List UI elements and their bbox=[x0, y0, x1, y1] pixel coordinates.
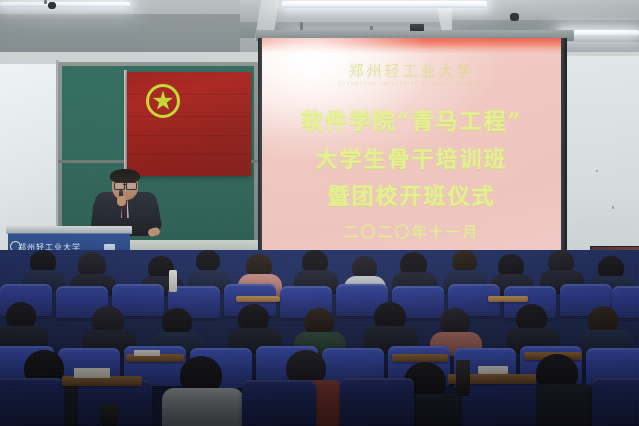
desk-surface bbox=[236, 296, 280, 302]
lecture-seat bbox=[0, 378, 64, 426]
audience-person bbox=[162, 388, 244, 426]
slide-university-logo: 郑州轻工业大学 ZHENGZHOU UNIVERSITY OF LIGHT IN… bbox=[262, 60, 561, 87]
desk-surface bbox=[488, 296, 528, 302]
lecture-seat bbox=[340, 378, 414, 426]
ceiling-speaker-icon bbox=[510, 13, 519, 21]
slide-logo-cn: 郑州轻工业大学 bbox=[262, 60, 561, 81]
lecture-seat bbox=[462, 380, 536, 426]
projection-screen: 郑州轻工业大学 ZHENGZHOU UNIVERSITY OF LIGHT IN… bbox=[262, 38, 561, 268]
lecture-seat bbox=[242, 380, 316, 426]
speaker-hand-holding-mic bbox=[117, 196, 126, 206]
slide-title-line-1: 软件学院“青马工程” bbox=[262, 104, 561, 136]
wall-panel-right bbox=[566, 56, 639, 271]
slide-date: 二〇二〇年十一月 bbox=[262, 221, 561, 242]
fluorescent-light-2 bbox=[282, 1, 487, 8]
youth-league-star-icon bbox=[146, 84, 180, 118]
fluorescent-light-1 bbox=[0, 2, 130, 7]
wall-mark-2 bbox=[612, 206, 614, 209]
speaker-glasses-right bbox=[126, 182, 137, 190]
screen-border-right bbox=[560, 38, 567, 270]
audience-head bbox=[440, 308, 470, 335]
projector-icon bbox=[410, 24, 424, 31]
ceiling-camera-icon bbox=[48, 2, 56, 9]
slide-title-line-2: 大学生骨干培训班 bbox=[262, 142, 561, 174]
light-holder-1 bbox=[44, 0, 47, 4]
slide-logo-en: ZHENGZHOU UNIVERSITY OF LIGHT INDUSTRY bbox=[262, 82, 561, 87]
lecture-hall-photo: 郑州轻工业大学 ZHENGZHOU UNIVERSITY OF LIGHT IN… bbox=[0, 0, 639, 426]
water-bottle bbox=[169, 270, 177, 292]
desk-surface bbox=[392, 354, 448, 362]
wall-mark-1 bbox=[596, 170, 598, 172]
audience-head bbox=[162, 308, 192, 335]
drink-cup bbox=[100, 404, 118, 426]
slide-title-line-3: 暨团校开班仪式 bbox=[262, 179, 561, 211]
speaker-glasses-bridge bbox=[123, 184, 127, 185]
handout-paper bbox=[74, 368, 110, 378]
lecture-seat bbox=[592, 378, 639, 426]
audience-head bbox=[196, 250, 220, 272]
speaker-hair bbox=[110, 169, 140, 183]
handout-paper bbox=[478, 366, 508, 374]
handout-paper bbox=[134, 350, 160, 356]
audience-seating-area bbox=[0, 250, 639, 426]
audience-head bbox=[304, 308, 334, 335]
drink-cup bbox=[456, 360, 470, 396]
